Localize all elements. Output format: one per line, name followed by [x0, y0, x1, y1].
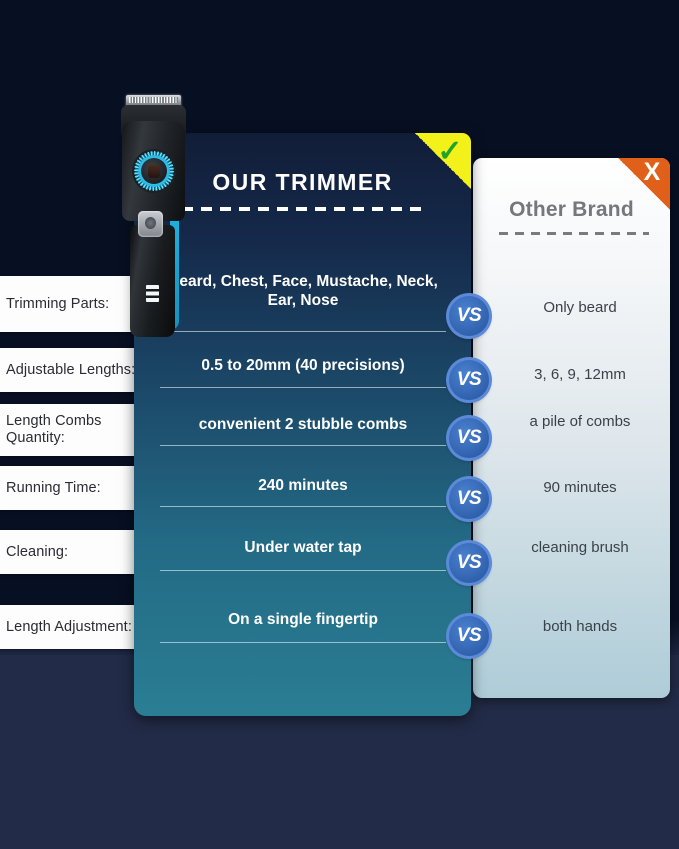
our-value-rule: [160, 642, 446, 643]
row-label-text: Running Time:: [6, 480, 101, 497]
other-value: cleaning brush: [487, 538, 673, 557]
row-label-text: Length Combs Quantity:: [6, 413, 102, 447]
vs-badge: VS: [449, 360, 489, 400]
trimmer-dial-core: [148, 165, 160, 178]
our-value: Beard, Chest, Face, Mustache, Neck, Ear,…: [160, 272, 446, 310]
our-value: 0.5 to 20mm (40 precisions): [160, 356, 446, 375]
our-trimmer-dashed-rule: [182, 207, 422, 211]
beard-trimmer-product-image: [108, 95, 200, 340]
vs-badge: VS: [449, 543, 489, 583]
row-label-band: Running Time:: [0, 466, 136, 510]
trimmer-blade-teeth: [129, 97, 178, 103]
our-value: On a single fingertip: [160, 610, 446, 629]
check-mark-icon: ✓: [435, 135, 465, 169]
other-value: 90 minutes: [487, 478, 673, 497]
our-value: 240 minutes: [160, 476, 446, 495]
row-label-band: Adjustable Lengths:: [0, 348, 136, 392]
our-value-rule: [160, 387, 446, 388]
vs-badge: VS: [449, 418, 489, 458]
row-label-band: Length Adjustment:: [0, 605, 136, 649]
row-label-text: Cleaning:: [6, 544, 68, 561]
vs-badge: VS: [449, 616, 489, 656]
row-label-text: Length Adjustment:: [6, 619, 132, 636]
trimmer-battery-indicator: [146, 285, 159, 302]
our-value-rule: [160, 570, 446, 571]
other-value: both hands: [487, 617, 673, 636]
other-brand-title: Other Brand: [473, 198, 670, 222]
vs-badge: VS: [449, 296, 489, 336]
row-label-band: Cleaning:: [0, 530, 136, 574]
row-label-band: Length Combs Quantity:: [0, 404, 136, 456]
trimmer-power-button-glyph: [145, 217, 156, 229]
our-value: Under water tap: [160, 538, 446, 557]
our-value-rule: [160, 331, 446, 332]
row-label-text: Adjustable Lengths:: [6, 362, 135, 379]
other-brand-dashed-rule: [499, 232, 649, 235]
our-value-rule: [160, 506, 446, 507]
row-label-text: Trimming Parts:: [6, 296, 109, 313]
vs-badge: VS: [449, 479, 489, 519]
our-value: convenient 2 stubble combs: [160, 415, 446, 434]
other-value: 3, 6, 9, 12mm: [487, 365, 673, 384]
trimmer-handle: [130, 225, 175, 337]
other-value: Only beard: [487, 298, 673, 317]
close-x-icon: X: [638, 158, 666, 188]
other-value: a pile of combs: [487, 412, 673, 431]
our-value-rule: [160, 445, 446, 446]
